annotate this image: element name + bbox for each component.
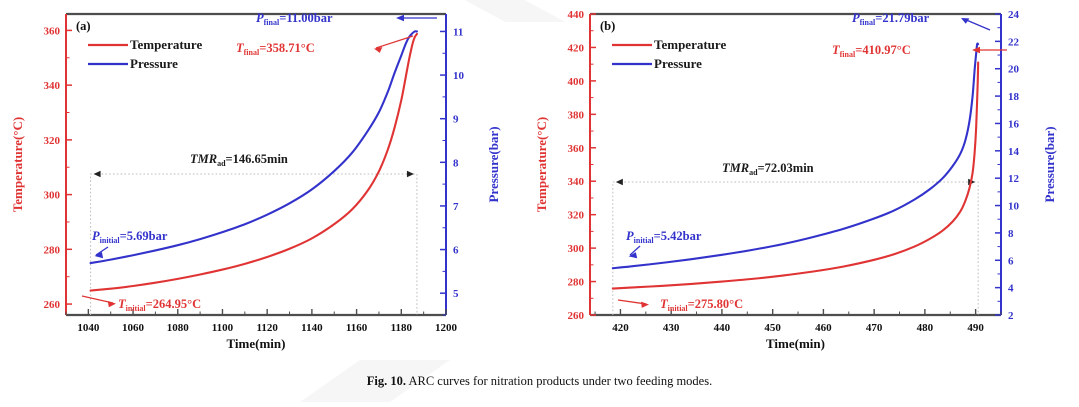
- annotation-t-final: Tfinal=358.71°C: [236, 41, 315, 57]
- y-right-tick-label: 14: [1008, 146, 1020, 158]
- y-right-tick-label: 6: [1008, 255, 1014, 267]
- annotation-value: =275.80°C: [688, 297, 744, 311]
- y-right-tick-label: 11: [453, 26, 463, 38]
- x-tick-label: 1080: [167, 322, 190, 334]
- annotation-subscript: initial: [126, 304, 147, 313]
- y-right-tick-label: 9: [453, 114, 459, 126]
- tmr-arrow-left: [616, 179, 623, 185]
- y-left-tick-label: 380: [568, 109, 585, 121]
- x-tick-label: 480: [917, 322, 934, 334]
- annotation-arrow: [964, 19, 990, 30]
- y-right-tick-label: 8: [1008, 228, 1014, 240]
- x-tick-label: 430: [663, 322, 680, 334]
- y-right-tick-label: 7: [453, 201, 459, 213]
- annotation-value: =21.79bar: [875, 11, 929, 25]
- annotation-subscript: initial: [100, 236, 121, 245]
- annotation-symbol: TMR: [190, 152, 217, 166]
- x-tick-label: 1160: [346, 322, 368, 334]
- y-left-tick-label: 400: [568, 76, 585, 88]
- y-right-tick-label: 12: [1008, 173, 1020, 185]
- panel-label-a: (a): [76, 19, 91, 33]
- y-left-axis-title: Temperature(°C): [534, 117, 549, 212]
- annotation-t-initial: Tinitial=275.80°C: [660, 297, 743, 313]
- y-left-tick-label: 420: [568, 42, 585, 54]
- tmr-arrow-left: [94, 171, 101, 177]
- y-left-tick-label: 320: [44, 135, 61, 147]
- figure-caption: Fig. 10. ARC curves for nitration produc…: [0, 363, 1079, 407]
- x-axis-title: Time(min): [766, 336, 825, 351]
- x-tick-label: 470: [866, 322, 883, 334]
- x-tick-label: 460: [815, 322, 832, 334]
- x-tick-label: 440: [714, 322, 731, 334]
- x-tick-label: 450: [764, 322, 781, 334]
- y-right-tick-label: 20: [1008, 64, 1020, 76]
- y-left-tick-label: 300: [44, 190, 61, 202]
- y-left-tick-label: 340: [568, 176, 585, 188]
- annotation-arrowhead: [396, 15, 404, 21]
- x-tick-label: 1040: [77, 322, 100, 334]
- x-tick-label: 1140: [301, 322, 323, 334]
- y-left-tick-label: 320: [568, 210, 585, 222]
- annotation-value: =358.71°C: [259, 41, 315, 55]
- y-left-tick-label: 440: [568, 9, 585, 21]
- annotation-subscript: initial: [668, 304, 689, 313]
- y-right-tick-label: 10: [453, 70, 465, 82]
- annotation-p-initial: Pinitial=5.69bar: [92, 229, 168, 245]
- y-right-tick-label: 24: [1008, 9, 1020, 21]
- y-left-tick-label: 260: [568, 310, 585, 322]
- y-right-tick-label: 8: [453, 157, 459, 169]
- y-left-tick-label: 280: [568, 277, 585, 289]
- y-left-tick-label: 360: [568, 143, 585, 155]
- caption-text: Fig. 10. ARC curves for nitration produc…: [367, 374, 712, 389]
- tmr-guide-box: [91, 174, 417, 315]
- x-axis-title: Time(min): [227, 336, 286, 351]
- annotation-tmr-ad: TMRad=72.03min: [722, 161, 814, 177]
- x-tick-label: 1120: [256, 322, 278, 334]
- figure-container: 1040106010801100112011401160118012002602…: [0, 0, 1079, 363]
- annotation-subscript: final: [244, 48, 260, 57]
- legend-label-temperature: Temperature: [130, 37, 202, 52]
- x-tick-label: 490: [967, 322, 984, 334]
- annotation-tmr-ad: TMRad=146.65min: [190, 152, 288, 168]
- tmr-guide-box: [613, 182, 978, 315]
- annotation-subscript: final: [264, 18, 280, 27]
- x-tick-label: 1200: [435, 322, 458, 334]
- y-right-tick-label: 5: [453, 288, 459, 300]
- annotation-value: =5.42bar: [654, 229, 702, 243]
- caption-body: ARC curves for nitration products under …: [406, 374, 712, 388]
- annotation-arrowhead: [374, 47, 382, 53]
- annotation-value: =11.00bar: [279, 11, 333, 25]
- y-right-axis-title: Pressure(bar): [486, 126, 501, 202]
- tmr-arrow-right: [407, 171, 414, 177]
- annotation-t-final: Tfinal=410.97°C: [832, 43, 911, 59]
- chart-panel-b: 4204304404504604704804902602803003203403…: [520, 0, 1079, 363]
- annotation-subscript: final: [860, 18, 876, 27]
- panel-label-b: (b): [600, 19, 615, 33]
- annotation-subscript: initial: [634, 236, 655, 245]
- caption-prefix: Fig. 10.: [367, 374, 406, 388]
- legend-label-pressure: Pressure: [654, 56, 702, 71]
- annotation-value: =146.65min: [226, 152, 288, 166]
- y-right-tick-label: 2: [1008, 310, 1014, 322]
- annotation-value: =5.69bar: [120, 229, 168, 243]
- annotation-symbol: TMR: [722, 161, 749, 175]
- annotation-value: =410.97°C: [855, 43, 911, 57]
- series-line-temperature: [613, 63, 978, 289]
- annotation-p-initial: Pinitial=5.42bar: [626, 229, 702, 245]
- y-left-tick-label: 340: [44, 80, 61, 92]
- y-left-tick-label: 360: [44, 25, 61, 37]
- y-left-tick-label: 280: [44, 244, 61, 256]
- y-right-axis-title: Pressure(bar): [1042, 126, 1057, 202]
- annotation-value: =72.03min: [758, 161, 814, 175]
- x-tick-label: 1100: [212, 322, 234, 334]
- y-right-tick-label: 6: [453, 245, 459, 257]
- chart-panel-a: 1040106010801100112011401160118012002602…: [0, 0, 520, 363]
- plot-svg-b: 4204304404504604704804902602803003203403…: [520, 0, 1079, 363]
- y-right-tick-label: 22: [1008, 36, 1020, 48]
- legend-label-pressure: Pressure: [130, 56, 178, 71]
- annotation-subscript: final: [840, 50, 856, 59]
- y-right-tick-label: 10: [1008, 201, 1020, 213]
- y-left-tick-label: 300: [568, 243, 585, 255]
- legend-label-temperature: Temperature: [654, 37, 726, 52]
- y-left-tick-label: 260: [44, 299, 61, 311]
- annotation-t-initial: Tinitial=264.95°C: [118, 297, 201, 313]
- annotation-value: =264.95°C: [146, 297, 202, 311]
- x-tick-label: 1060: [122, 322, 145, 334]
- plot-svg-a: 1040106010801100112011401160118012002602…: [0, 0, 520, 363]
- y-right-tick-label: 18: [1008, 91, 1020, 103]
- y-right-tick-label: 4: [1008, 283, 1014, 295]
- x-tick-label: 420: [612, 322, 629, 334]
- y-right-tick-label: 16: [1008, 118, 1020, 130]
- annotation-arrowhead: [641, 302, 649, 308]
- x-tick-label: 1180: [391, 322, 413, 334]
- y-left-axis-title: Temperature(°C): [10, 117, 25, 212]
- annotation-arrowhead: [108, 301, 116, 307]
